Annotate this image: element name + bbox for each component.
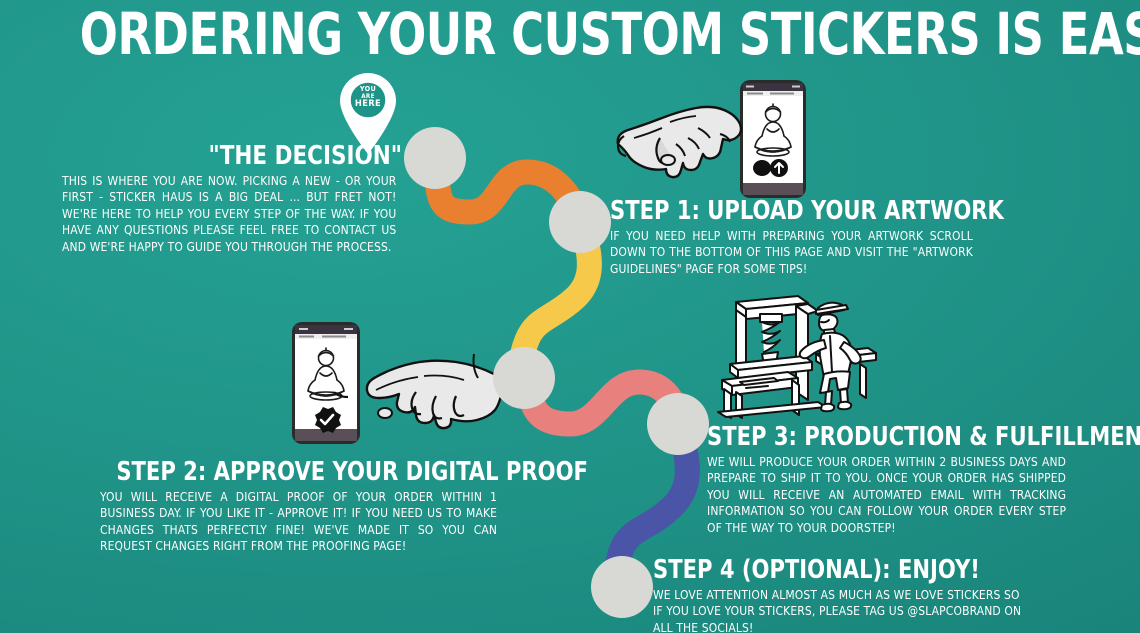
page-title: ORDERING YOUR CUSTOM STICKERS IS EASY!	[80, 2, 1060, 66]
step-heading-step4: STEP 4 (OPTIONAL): ENJOY!	[653, 557, 1010, 584]
step-heading-decision: "THE DECISION"	[89, 143, 402, 170]
step-block-step3: STEP 3: PRODUCTION & FULFILLMENT WE WILL…	[707, 424, 1079, 536]
step-body-step4: WE LOVE ATTENTION ALMOST AS MUCH AS WE L…	[653, 587, 1025, 633]
step-body-step1: IF YOU NEED HELP WITH PREPARING YOUR ART…	[610, 228, 973, 277]
step-block-decision: "THE DECISION" THIS IS WHERE YOU ARE NOW…	[62, 143, 402, 255]
step-body-step2: YOU WILL RECEIVE A DIGITAL PROOF OF YOUR…	[100, 489, 497, 555]
step-body-step3: WE WILL PRODUCE YOUR ORDER WITHIN 2 BUSI…	[707, 454, 1066, 536]
node-decision	[404, 127, 466, 189]
digital-proof-illustration	[286, 318, 508, 450]
upload-artwork-illustration	[612, 78, 824, 200]
printing-press-illustration	[700, 292, 882, 420]
step-heading-step2: STEP 2: APPROVE YOUR DIGITAL PROOF	[116, 459, 491, 486]
connector-yellow	[522, 236, 590, 378]
step-heading-step1: STEP 1: UPLOAD YOUR ARTWORK	[610, 198, 958, 225]
connector-salmon	[530, 382, 679, 424]
connector-orange	[437, 168, 578, 215]
node-step1	[549, 191, 611, 253]
infographic-poster: ORDERING YOUR CUSTOM STICKERS IS EASY!	[0, 0, 1140, 633]
step-heading-step3: STEP 3: PRODUCTION & FULFILLMENT	[707, 424, 1049, 451]
step-block-step4: STEP 4 (OPTIONAL): ENJOY! WE LOVE ATTENT…	[653, 557, 1041, 633]
step-body-decision: THIS IS WHERE YOU ARE NOW. PICKING A NEW…	[62, 173, 396, 255]
node-step4	[591, 556, 653, 618]
step-block-step2: STEP 2: APPROVE YOUR DIGITAL PROOF YOU W…	[100, 459, 508, 555]
step-block-step1: STEP 1: UPLOAD YOUR ARTWORK IF YOU NEED …	[610, 198, 988, 277]
